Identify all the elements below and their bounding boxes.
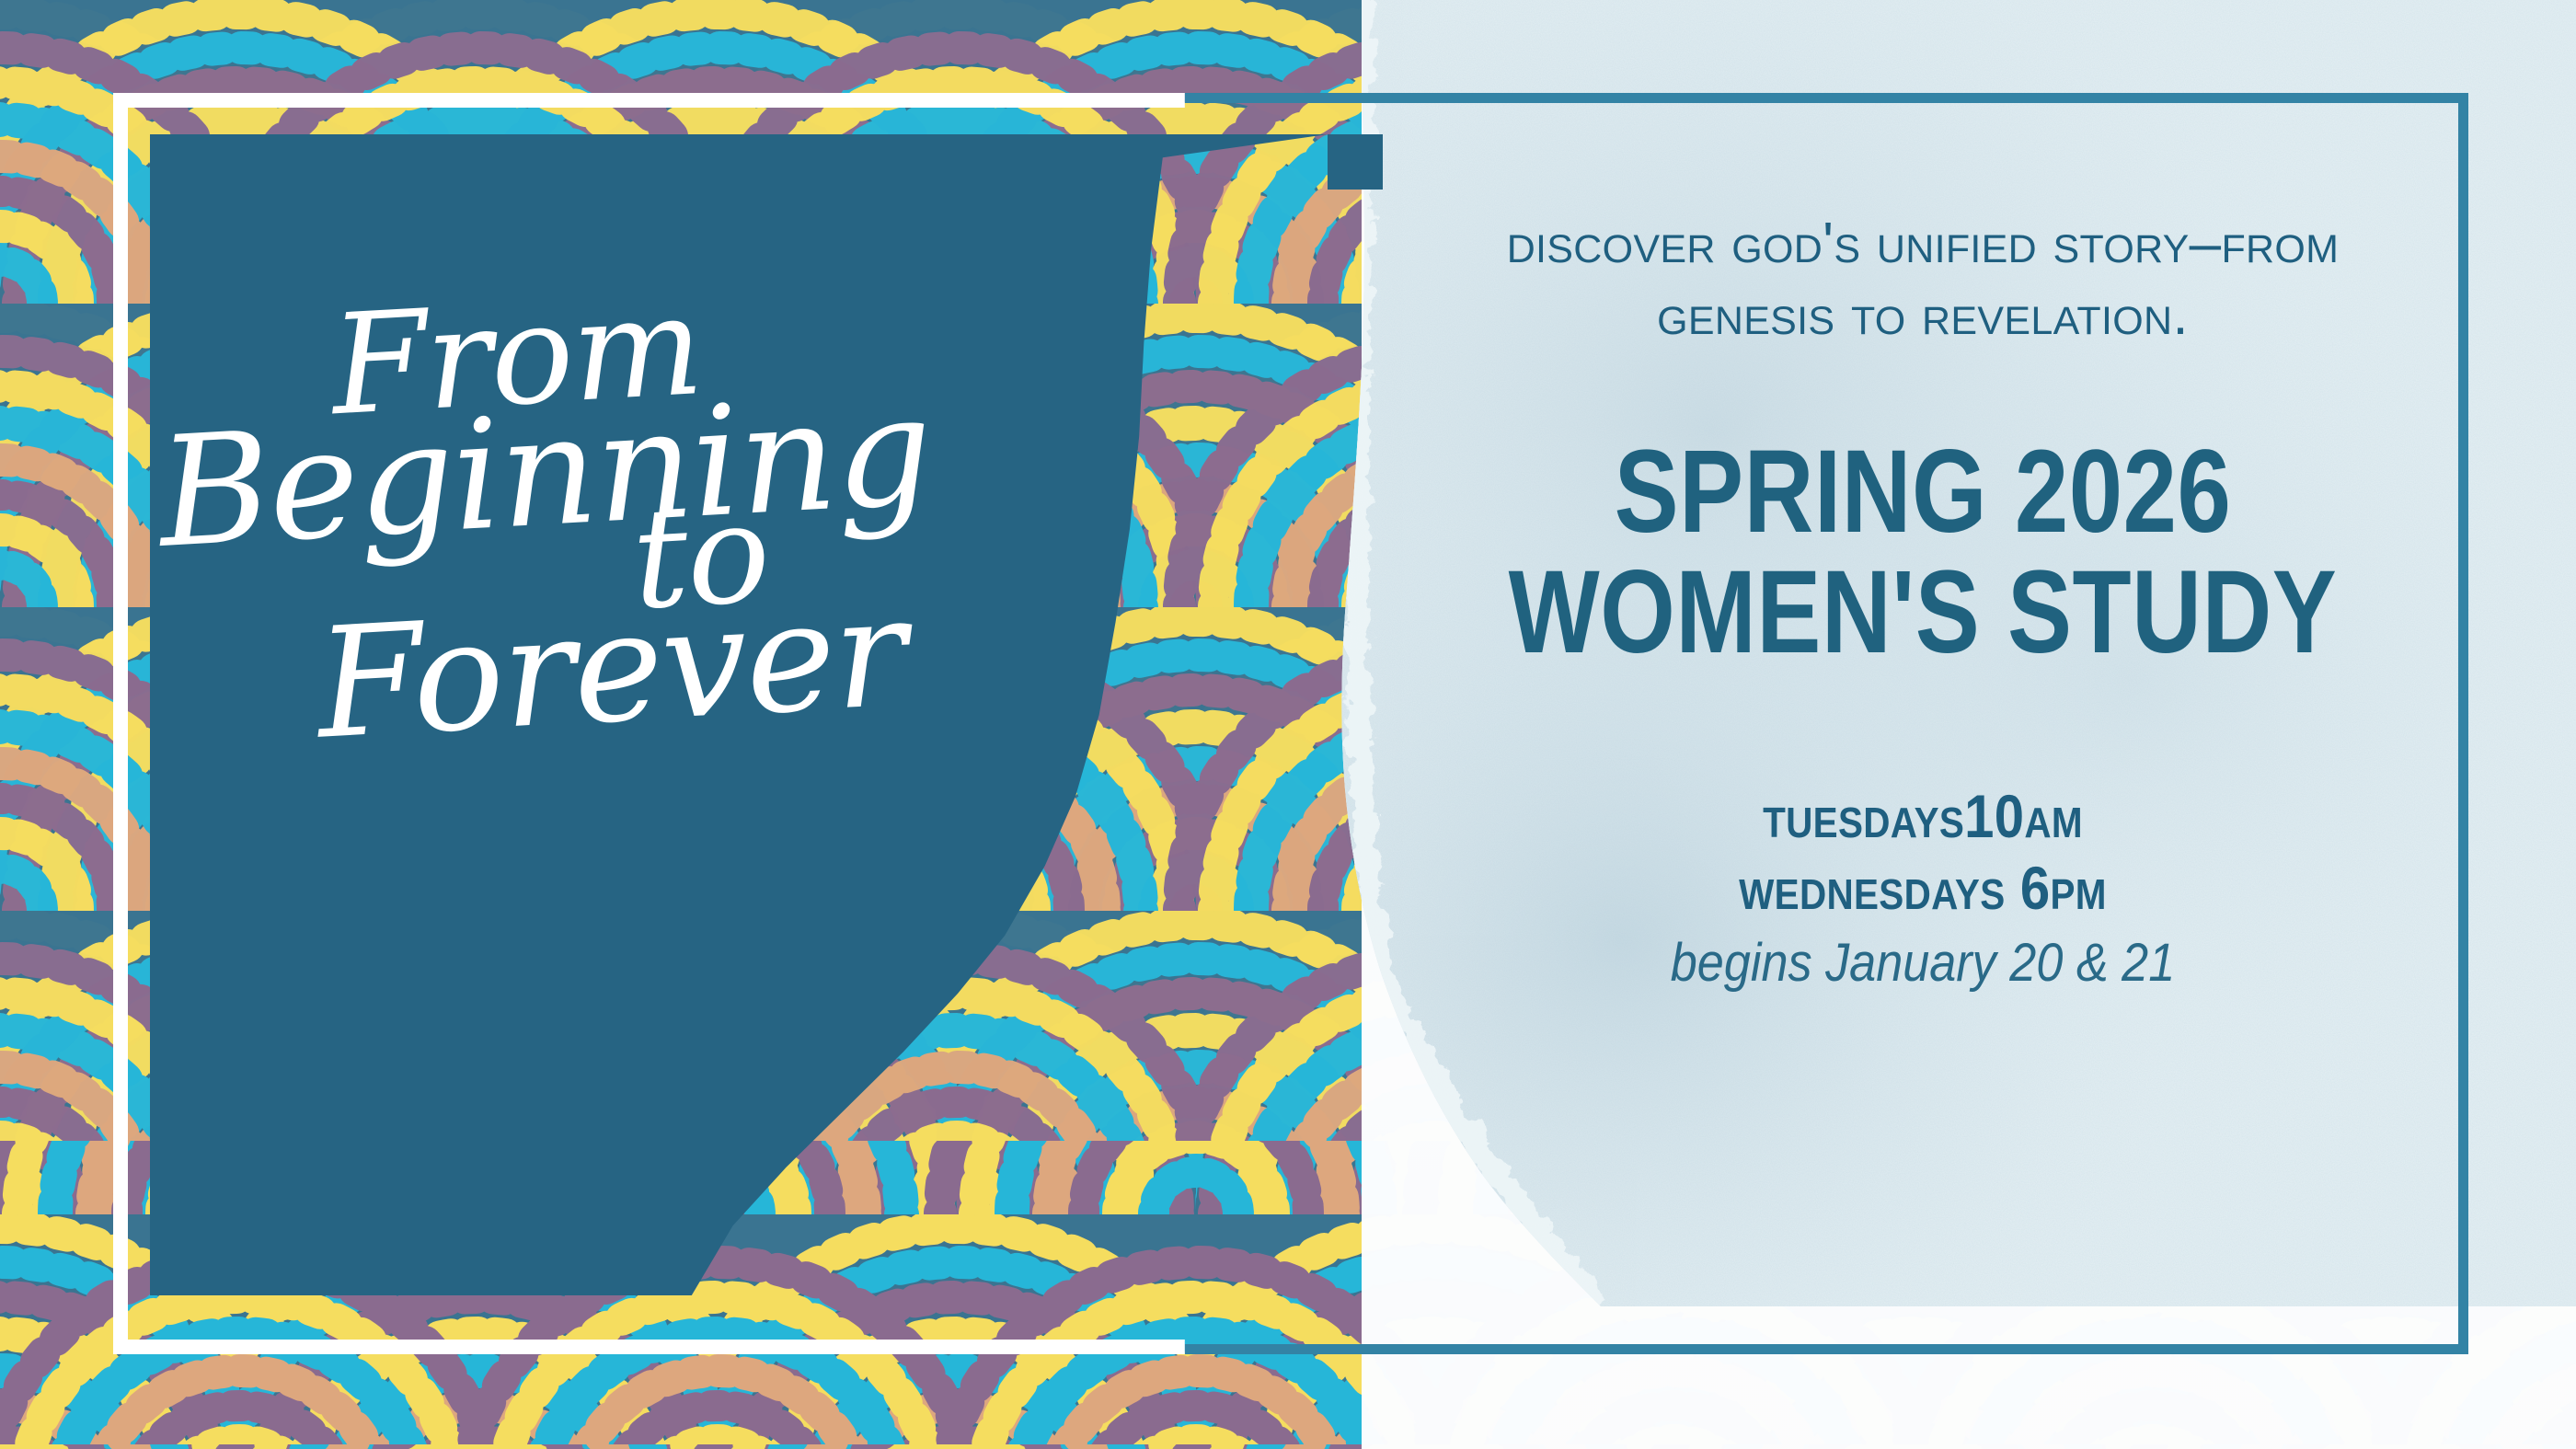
tagline-line-1: Discover God's unified story–from [1380, 208, 2466, 280]
script-title-line-4: Forever [313, 554, 1305, 760]
tagline: Discover God's unified story–from Genesi… [1380, 208, 2466, 351]
poster-canvas: From Beginning to Forever Discover God's… [0, 0, 2576, 1449]
teal-panel-bleed [1328, 134, 1383, 190]
schedule-start-date: begins January 20 & 21 [1434, 931, 2411, 995]
schedule-session-2: Wednesdays 6pm [1445, 853, 2400, 924]
event-details-column: Discover God's unified story–from Genesi… [1380, 175, 2466, 995]
event-headline: SPRING 2026 WOMEN'S STUDY [1478, 432, 2368, 673]
tagline-line-2: Genesis to Revelation. [1380, 280, 2466, 351]
schedule-session-1: Tuesdays10am [1445, 781, 2400, 852]
event-schedule: Tuesdays10am Wednesdays 6pm begins Janua… [1380, 781, 2466, 995]
event-headline-line-2: WOMEN'S STUDY [1478, 553, 2368, 673]
script-title: From Beginning to Forever [131, 245, 1320, 1044]
event-headline-line-1: SPRING 2026 [1478, 432, 2368, 553]
